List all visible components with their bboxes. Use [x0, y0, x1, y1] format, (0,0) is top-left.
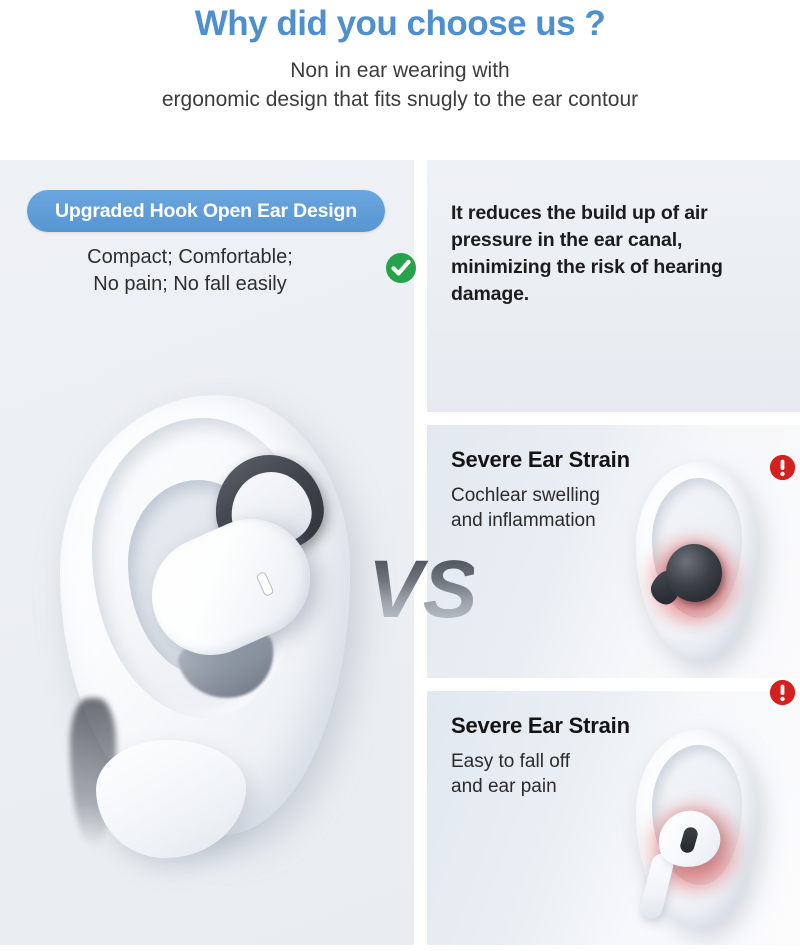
problem-subtitle-line-2: and ear pain	[451, 776, 557, 797]
problem-subtitle-line-2: and inflammation	[451, 510, 596, 531]
warning-exclamation-icon	[769, 679, 796, 706]
problem-subtitle: Easy to fall off and ear pain	[451, 749, 691, 799]
problem-subtitle-line-1: Cochlear swelling	[451, 485, 600, 506]
benefit-text: It reduces the build up of air pressure …	[451, 200, 763, 308]
subtitle-line-1: Non in ear wearing with	[290, 59, 509, 82]
left-product-panel: Upgraded Hook Open Ear Design Compact; C…	[0, 160, 414, 945]
problem-panel-cochlear-swelling: Severe Ear Strain Cochlear swelling and …	[427, 425, 800, 678]
upgraded-design-badge: Upgraded Hook Open Ear Design	[27, 190, 385, 232]
problem-panel-fall-off: Severe Ear Strain Easy to fall off and e…	[427, 691, 800, 945]
problem-subtitle: Cochlear swelling and inflammation	[451, 483, 691, 533]
ear-lobe-shape	[96, 740, 246, 858]
problem-title: Severe Ear Strain	[451, 713, 630, 739]
left-panel-subtitle: Compact; Comfortable; No pain; No fall e…	[0, 244, 380, 298]
benefit-panel: It reduces the build up of air pressure …	[427, 160, 800, 412]
problem-subtitle-line-1: Easy to fall off	[451, 751, 570, 772]
left-subtitle-line-2: No pain; No fall easily	[93, 273, 286, 295]
black-earbud-body	[666, 544, 722, 602]
badge-label: Upgraded Hook Open Ear Design	[55, 200, 357, 223]
problem-title: Severe Ear Strain	[451, 447, 630, 473]
warning-exclamation-icon	[769, 454, 796, 481]
page-title: Why did you choose us ?	[0, 0, 800, 46]
check-circle-icon	[385, 252, 417, 284]
page-subtitle: Non in ear wearing with ergonomic design…	[0, 46, 800, 114]
subtitle-line-2: ergonomic design that fits snugly to the…	[162, 88, 638, 111]
left-subtitle-line-1: Compact; Comfortable;	[87, 246, 293, 268]
page-header: Why did you choose us ? Non in ear weari…	[0, 0, 800, 158]
